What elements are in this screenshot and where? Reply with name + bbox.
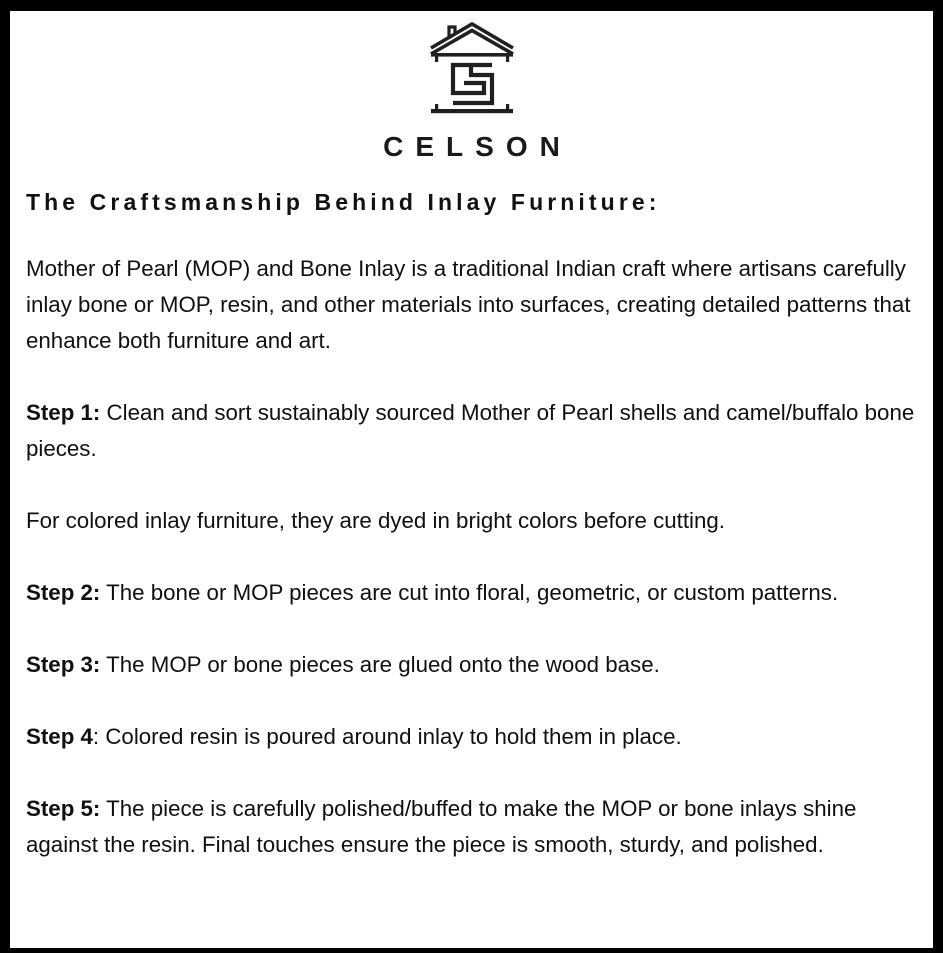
- step-2-label: Step 2:: [26, 580, 100, 605]
- document-inner: CELSON The Craftsmanship Behind Inlay Fu…: [10, 11, 933, 948]
- step-1-text: Clean and sort sustainably sourced Mothe…: [26, 400, 914, 461]
- paragraph-step-4: Step 4: Colored resin is poured around i…: [26, 719, 918, 755]
- step-5-text: The piece is carefully polished/buffed t…: [26, 796, 856, 857]
- dye-note-text: For colored inlay furniture, they are dy…: [26, 508, 725, 533]
- step-3-label: Step 3:: [26, 652, 100, 677]
- paragraph-intro: Mother of Pearl (MOP) and Bone Inlay is …: [26, 251, 918, 359]
- paragraph-dye-note: For colored inlay furniture, they are dy…: [26, 503, 918, 539]
- paragraph-step-3: Step 3: The MOP or bone pieces are glued…: [26, 647, 918, 683]
- step-4-label: Step 4: [26, 724, 93, 749]
- paragraph-step-2: Step 2: The bone or MOP pieces are cut i…: [26, 575, 918, 611]
- brand-wordmark: CELSON: [17, 133, 926, 161]
- paragraph-intro-text: Mother of Pearl (MOP) and Bone Inlay is …: [26, 256, 911, 353]
- step-4-text: Colored resin is poured around inlay to …: [99, 724, 682, 749]
- step-5-label: Step 5:: [26, 796, 100, 821]
- document-body: Mother of Pearl (MOP) and Bone Inlay is …: [26, 251, 926, 863]
- document-card: CELSON The Craftsmanship Behind Inlay Fu…: [0, 0, 943, 953]
- step-2-text: The bone or MOP pieces are cut into flor…: [100, 580, 838, 605]
- step-3-text: The MOP or bone pieces are glued onto th…: [100, 652, 659, 677]
- house-monogram-logo-icon: [426, 21, 518, 121]
- brand-block: CELSON: [17, 19, 926, 161]
- paragraph-step-1: Step 1: Clean and sort sustainably sourc…: [26, 395, 918, 467]
- step-1-label: Step 1:: [26, 400, 100, 425]
- page-title: The Craftsmanship Behind Inlay Furniture…: [26, 189, 926, 217]
- paragraph-step-5: Step 5: The piece is carefully polished/…: [26, 791, 918, 863]
